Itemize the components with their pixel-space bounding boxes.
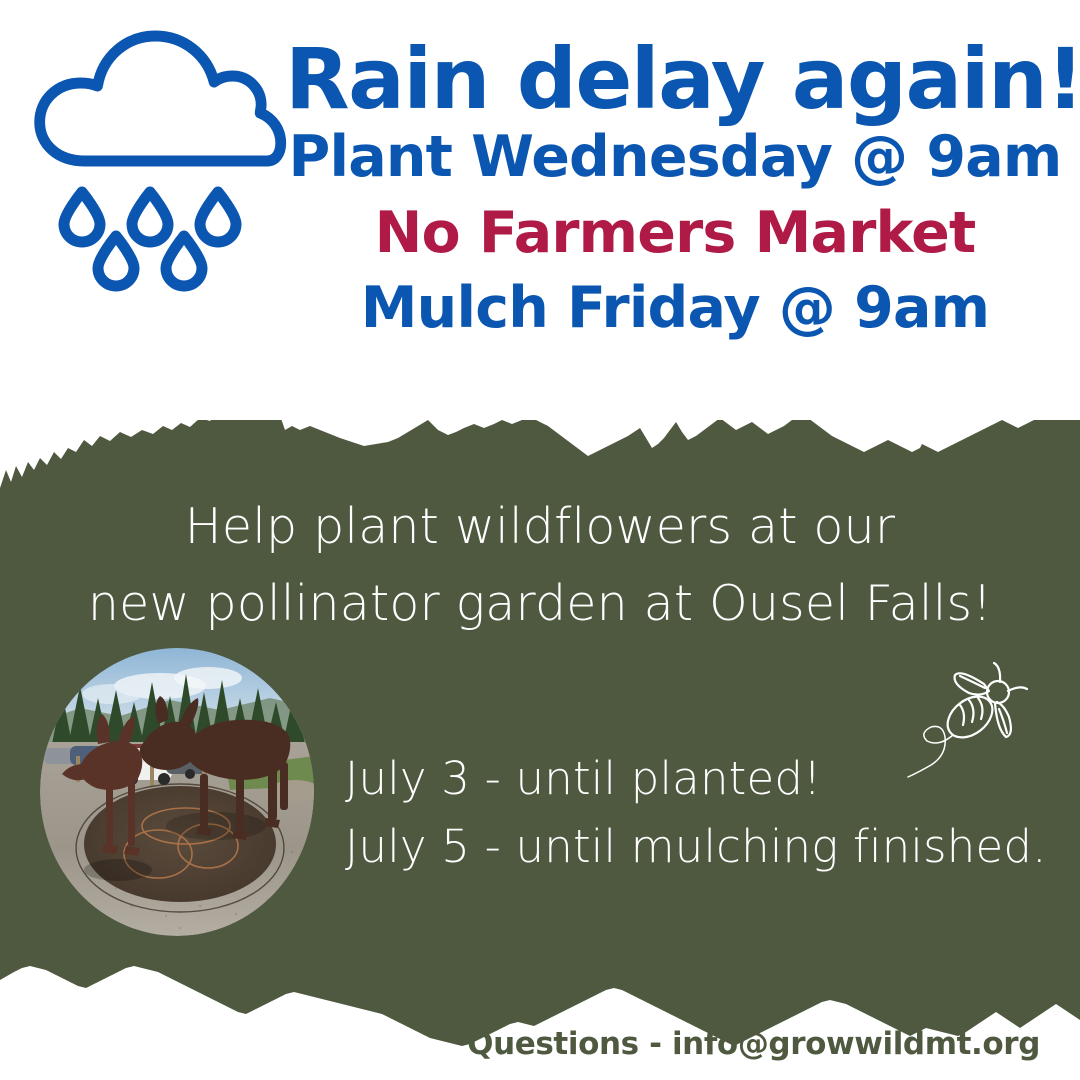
schedule-line-no-market: No Farmers Market: [285, 196, 1065, 271]
header-band: Rain delay again! Plant Wednesday @ 9am …: [0, 0, 1080, 420]
poster-canvas: Help plant wildflowers at our new pollin…: [0, 0, 1080, 1080]
page-title: Rain delay again!: [285, 38, 1065, 120]
contact-line[interactable]: Questions - info@growwildmt.org: [0, 1026, 1040, 1062]
headline-block: Rain delay again! Plant Wednesday @ 9am …: [285, 38, 1065, 346]
schedule-line-mulch: Mulch Friday @ 9am: [285, 271, 1065, 346]
schedule-line-plant: Plant Wednesday @ 9am: [285, 120, 1065, 195]
rain-cloud-icon: [30, 20, 290, 295]
lede-text: Help plant wildflowers at our new pollin…: [40, 488, 1040, 643]
lede-line-1: Help plant wildflowers at our: [185, 498, 895, 555]
date-item-1: July 5 - until mulching finished.: [345, 813, 1047, 881]
moose-sculpture-photo: [40, 648, 314, 936]
date-item-0: July 3 - until planted!: [345, 745, 1047, 813]
lede-line-2: new pollinator garden at Ousel Falls!: [40, 565, 1040, 642]
date-list: July 3 - until planted! July 5 - until m…: [345, 745, 1047, 882]
